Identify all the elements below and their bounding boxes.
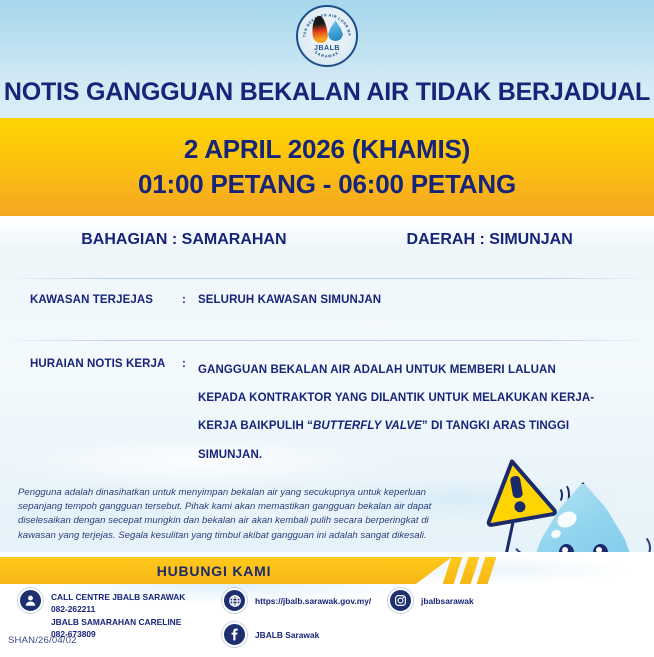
logo-waterdrop-icon — [328, 20, 343, 41]
region-row: BAHAGIAN : SAMARAHAN DAERAH : SIMUNJAN — [0, 231, 654, 249]
logo-flame-icon — [310, 15, 329, 44]
logo-emblem-icon — [310, 16, 344, 46]
divider-bottom — [0, 340, 654, 341]
footer: HUBUNGI KAMI CALL CENTRE JBALB SARAWAK 0… — [0, 552, 654, 657]
call-centre-line3: JBALB SAMARAHAN CARELINE — [51, 617, 181, 627]
globe-icon — [222, 588, 247, 613]
date-time-banner: 2 APRIL 2026 (KHAMIS) 01:00 PETANG - 06:… — [0, 118, 654, 216]
district-label: DAERAH : SIMUNJAN — [407, 231, 573, 249]
contact-facebook[interactable]: JBALB Sarawak — [222, 622, 319, 647]
contact-website[interactable]: https://jbalb.sarawak.gov.my/ — [222, 588, 371, 613]
contact-call-centre[interactable]: CALL CENTRE JBALB SARAWAK 082-262211 JBA… — [18, 588, 185, 641]
page-title: NOTIS GANGGUAN BEKALAN AIR TIDAK BERJADU… — [0, 78, 654, 107]
divider-top — [0, 278, 654, 279]
header-banner: JABATAN BEKALAN AIR LUAR BANDAR SARAWAK … — [0, 0, 654, 118]
call-centre-line2: 082-262211 — [51, 604, 95, 614]
work-description-colon: : — [182, 356, 198, 373]
logo-oval-badge: JABATAN BEKALAN AIR LUAR BANDAR SARAWAK … — [296, 5, 358, 67]
call-centre-text: CALL CENTRE JBALB SARAWAK 082-262211 JBA… — [51, 588, 185, 641]
notice-date: 2 APRIL 2026 (KHAMIS) — [184, 132, 470, 167]
jbalb-logo: JABATAN BEKALAN AIR LUAR BANDAR SARAWAK … — [296, 5, 358, 67]
contact-banner-title: HUBUNGI KAMI — [157, 563, 272, 579]
call-centre-line1: CALL CENTRE JBALB SARAWAK — [51, 592, 185, 602]
instagram-label: jbalbsarawak — [421, 588, 474, 607]
affected-area-value: SELURUH KAWASAN SIMUNJAN — [198, 292, 381, 309]
contact-instagram[interactable]: jbalbsarawak — [388, 588, 474, 613]
website-label: https://jbalb.sarawak.gov.my/ — [255, 588, 371, 607]
work-description-emphasis: BUTTERFLY VALVE — [313, 420, 422, 432]
facebook-label: JBALB Sarawak — [255, 622, 319, 641]
logo-wordmark: JBALB — [314, 45, 340, 52]
affected-area-row: KAWASAN TERJEJAS : SELURUH KAWASAN SIMUN… — [30, 292, 381, 309]
work-description-label: HURAIAN NOTIS KERJA — [30, 356, 182, 373]
instagram-icon — [388, 588, 413, 613]
person-phone-icon — [18, 588, 43, 613]
facebook-icon — [222, 622, 247, 647]
notice-time: 01:00 PETANG - 06:00 PETANG — [138, 167, 516, 202]
contact-banner: HUBUNGI KAMI — [0, 557, 452, 584]
water-disruption-notice-poster: JABATAN BEKALAN AIR LUAR BANDAR SARAWAK … — [0, 0, 654, 657]
reference-code: SHAN/26/04/02 — [8, 635, 77, 646]
advisory-paragraph: Pengguna adalah dinasihatkan untuk menyi… — [18, 486, 466, 543]
division-label: BAHAGIAN : SAMARAHAN — [81, 231, 286, 249]
affected-area-colon: : — [182, 292, 198, 309]
contact-list: CALL CENTRE JBALB SARAWAK 082-262211 JBA… — [0, 588, 654, 650]
affected-area-label: KAWASAN TERJEJAS — [30, 292, 182, 309]
